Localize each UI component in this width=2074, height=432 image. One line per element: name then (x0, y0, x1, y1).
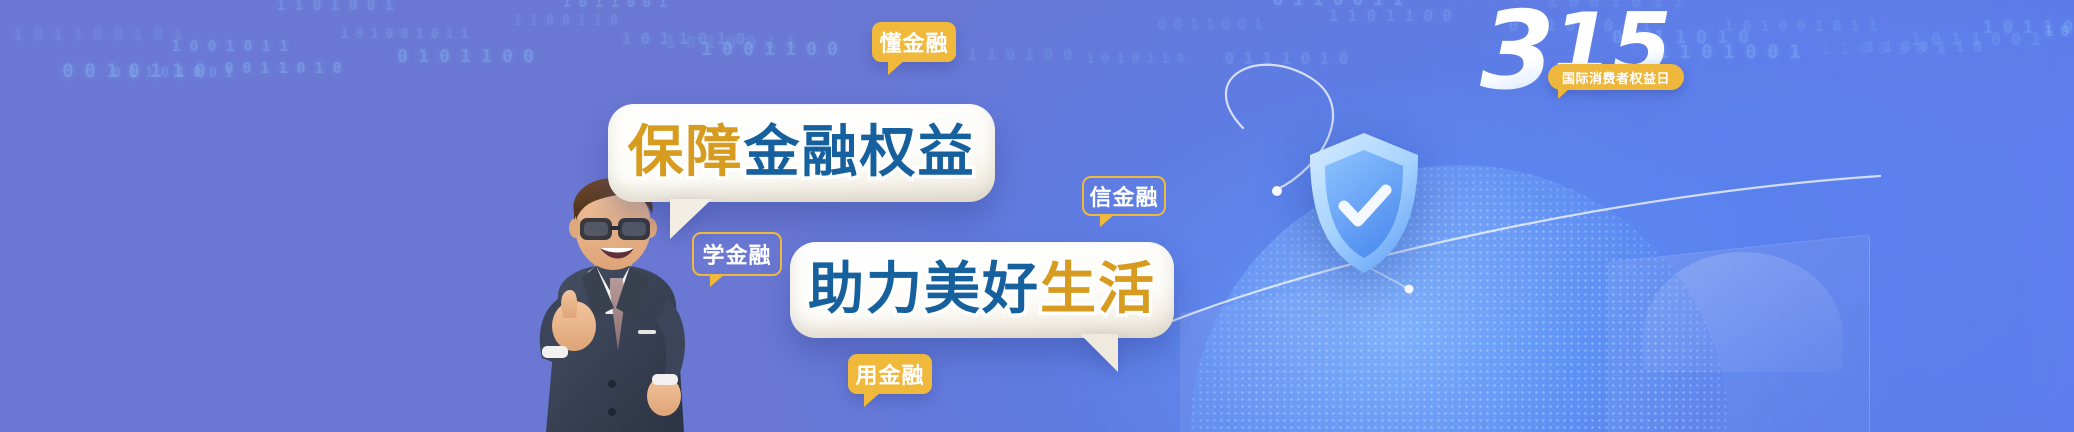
tag-dong-jinrong: 懂金融 (872, 22, 956, 62)
logo-badge-label: 国际消费者权益日 (1562, 68, 1670, 87)
logo-badge-tip (1558, 88, 1570, 99)
binary-column: 1 0 0 1 1 0 1 (559, 0, 671, 13)
binary-column: 1 0 0 1 1 0 0 (1154, 17, 1266, 35)
tag-label: 学金融 (702, 238, 771, 270)
globe-dot-matrix (1190, 165, 1730, 432)
logo-digit-3: 3 (1480, 0, 1555, 114)
tag-tip (710, 274, 725, 287)
binary-column: 0 0 1 1 0 1 0 (392, 46, 539, 69)
headline-2-blue: 助力美好 (808, 257, 1040, 322)
binary-column: 0 1 1 0 1 0 1 (1083, 52, 1188, 69)
binary-column: 1 0 0 1 0 1 1 (272, 0, 398, 16)
logo-badge: 国际消费者权益日 (1548, 64, 1684, 90)
binary-column: 0 1 0 1 1 1 0 (1220, 49, 1353, 70)
binary-code-background: 1 0 1 0 0 1 1 0 10 1 1 0 1 0 01 0 0 1 0 … (0, 0, 2074, 432)
binary-column: 0 1 0 1 1 0 1 (1978, 18, 2074, 40)
headline-line-1: 保障金融权益 (628, 125, 976, 181)
binary-column: 0 1 0 1 1 0 0 (1607, 27, 1754, 50)
headline-bubble-primary: 保障金融权益 (608, 104, 995, 202)
binary-column: 1 1 0 1 0 0 1 (167, 37, 293, 57)
tag-tip (888, 60, 905, 75)
tag-xue-jinrong: 学金融 (692, 232, 782, 276)
banner-315-financial-rights: 1 0 1 0 0 1 1 0 10 1 1 0 1 0 01 0 0 1 0 … (0, 0, 2074, 432)
headline-line-2: 助力美好生活 (808, 262, 1156, 318)
headline-2-gold: 生活 (1040, 257, 1156, 322)
binary-column: 0 1 1 0 1 0 0 (57, 60, 211, 84)
glass-panel-mid (1180, 287, 1330, 432)
binary-column: 0 1 1 0 0 1 1 (1861, 38, 1987, 58)
binary-column: 0 0 1 0 1 1 0 (944, 45, 1077, 66)
tag-tip (864, 392, 881, 407)
binary-column: 1 0 0 1 0 1 1 (1652, 41, 1806, 65)
binary-column: 1 0 0 1 0 1 1 0 (1504, 16, 1656, 37)
glass-dome-right (1643, 252, 1843, 372)
tag-label: 懂金融 (879, 26, 948, 58)
binary-column: 1 1 0 0 1 0 1 (2041, 24, 2074, 42)
binary-column: 1 1 0 1 0 0 1 0 1 (337, 27, 472, 44)
tag-yong-jinrong: 用金融 (848, 354, 932, 394)
binary-column: 1 1 0 0 1 0 1 (661, 33, 801, 55)
globe-glow (1190, 165, 1730, 432)
logo-315: 3 15 国际消费者权益日 (1478, 0, 1778, 114)
headline-1-blue: 金融权益 (744, 120, 976, 185)
binary-column: 1 0 1 0 0 1 1 0 1 (8, 25, 188, 47)
binary-column: 0 1 0 1 1 0 1 (617, 29, 750, 50)
tag-tip (1100, 214, 1115, 227)
logo-315-number: 3 15 (1478, 0, 1778, 114)
headline-bubble-secondary: 助力美好生活 (790, 242, 1174, 338)
glass-panel-right (1608, 234, 1870, 432)
binary-column: 0 1 1 0 1 0 0 (1438, 0, 1592, 5)
tag-label: 信金融 (1089, 180, 1158, 212)
bubble-tail (1080, 334, 1118, 372)
binary-column: 0 1 0 1 1 0 0 (220, 59, 346, 79)
tag-label: 用金融 (855, 358, 924, 390)
binary-column: 1 1 0 1 0 0 1 0 1 (1720, 17, 1882, 37)
logo-digit-15: 15 (1552, 0, 1672, 95)
binary-column: 0 1 1 0 0 1 1 (510, 13, 622, 31)
binary-column: 0 0 1 1 0 0 1 (696, 39, 843, 62)
binary-column: 1 1 0 0 1 1 0 (1268, 0, 1408, 12)
tag-xin-jinrong: 信金融 (1082, 176, 1166, 216)
shield-check-icon (1300, 128, 1428, 278)
binary-column: 0 0 1 1 0 1 1 (1324, 6, 1457, 27)
binary-column: 1 0 1 0 0 1 1 (1816, 39, 1949, 60)
orbit-arcs (0, 0, 2074, 432)
binary-column: 1 0 0 1 0 1 1 0 (109, 65, 237, 83)
dotted-globe-icon (1190, 165, 1730, 432)
binary-column: 1 1 0 1 0 0 1 (1542, 0, 1689, 14)
headline-1-gold: 保障 (628, 120, 744, 185)
binary-column: 1 0 0 1 1 0 1 (1906, 30, 2046, 52)
